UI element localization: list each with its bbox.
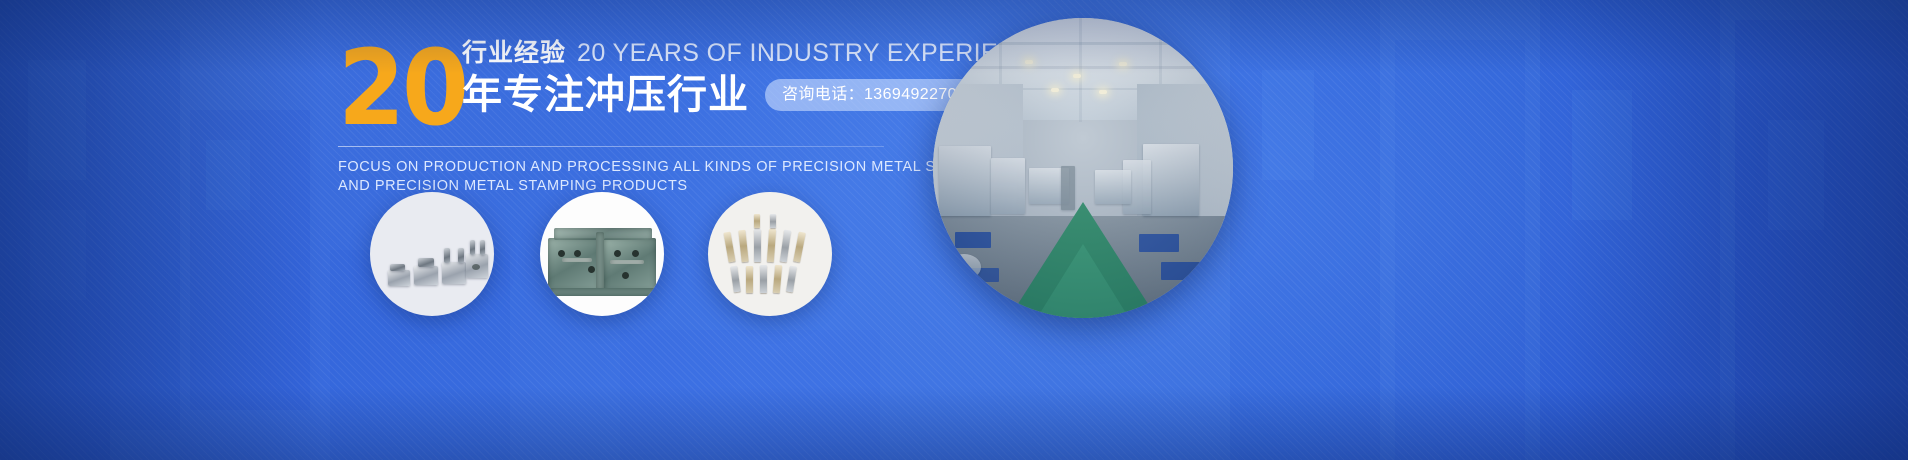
headline-chinese: 年专注冲压行业 [462,71,749,119]
product-circle-pins[interactable] [708,192,832,316]
description-text: FOCUS ON PRODUCTION AND PROCESSING ALL K… [338,158,898,196]
promo-banner: 20 行业经验 20 YEARS OF INDUSTRY EXPERIENCE … [0,0,1908,460]
tagline-chinese: 行业经验 [462,38,566,68]
product-circle-connectors[interactable] [370,192,494,316]
description-line-1: FOCUS ON PRODUCTION AND PROCESSING ALL K… [338,158,898,177]
product-circle-mold-die[interactable] [540,192,664,316]
factory-photo[interactable] [933,18,1233,318]
years-number: 20 [338,40,466,136]
headline-row: 20 行业经验 20 YEARS OF INDUSTRY EXPERIENCE … [338,38,898,136]
banner-copy: 20 行业经验 20 YEARS OF INDUSTRY EXPERIENCE … [338,38,898,196]
